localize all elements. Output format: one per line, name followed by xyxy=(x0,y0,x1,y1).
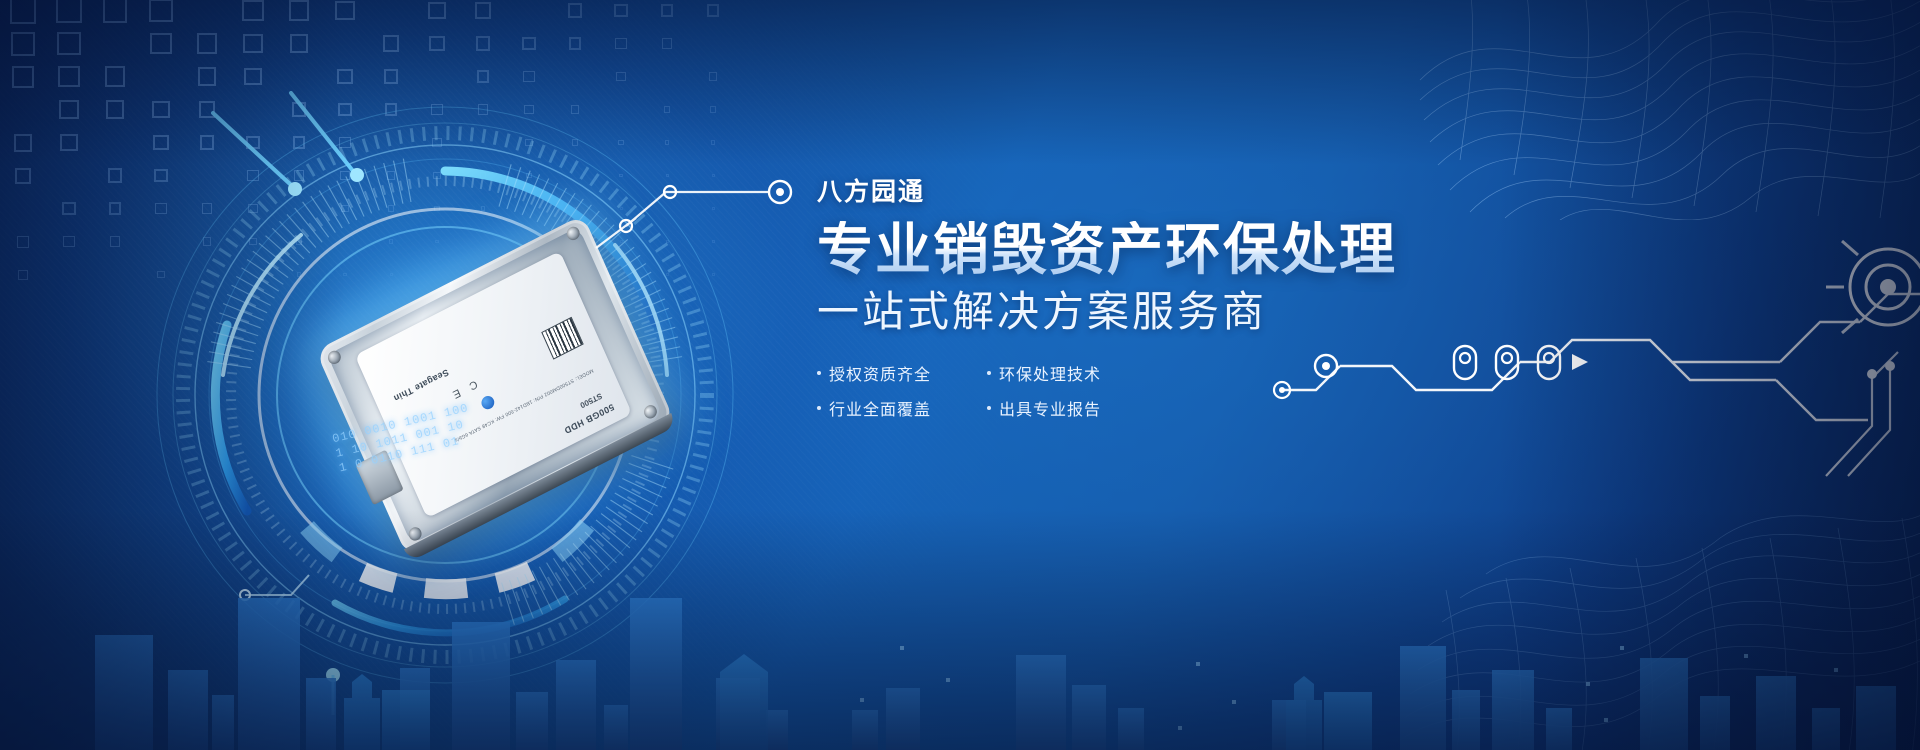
bullet-dot-icon xyxy=(987,406,991,410)
feature-item: 授权资质齐全 xyxy=(817,361,965,385)
hero-banner: Seagate Thin C E ST500 500GB HDD MODEL: … xyxy=(0,0,1920,750)
bullet-dot-icon xyxy=(817,371,821,375)
feature-label: 行业全面覆盖 xyxy=(829,396,931,420)
feature-list: 授权资质齐全 环保处理技术 行业全面覆盖 出具专业报告 xyxy=(817,361,1577,420)
feature-item: 行业全面覆盖 xyxy=(817,396,965,420)
hero-copy-block: 八方园通 专业销毁资产环保处理 一站式解决方案服务商 授权资质齐全 环保处理技术… xyxy=(817,180,1577,420)
feature-item: 出具专业报告 xyxy=(987,396,1135,420)
hero-subheadline: 一站式解决方案服务商 xyxy=(817,289,1577,335)
bullet-dot-icon xyxy=(817,406,821,410)
feature-label: 环保处理技术 xyxy=(999,361,1101,385)
brand-kicker: 八方园通 xyxy=(817,180,1577,205)
bullet-dot-icon xyxy=(987,371,991,375)
feature-label: 出具专业报告 xyxy=(999,396,1101,420)
hero-headline: 专业销毁资产环保处理 xyxy=(817,221,1577,279)
feature-label: 授权资质齐全 xyxy=(829,361,931,385)
feature-item: 环保处理技术 xyxy=(987,361,1135,385)
